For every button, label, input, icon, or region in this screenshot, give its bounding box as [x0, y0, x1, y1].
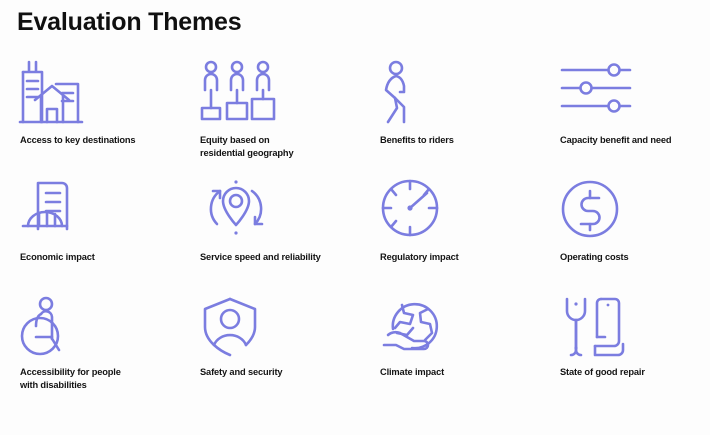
walking-person-icon — [380, 58, 540, 134]
theme-item-climate-impact[interactable]: Climate impact — [360, 288, 540, 413]
sliders-icon — [560, 58, 710, 134]
shield-person-icon — [200, 288, 360, 366]
theme-item-service-speed-and-reliability[interactable]: Service speed and reliability — [180, 173, 360, 288]
globe-hand-icon — [380, 288, 540, 366]
theme-item-operating-costs[interactable]: Operating costs — [540, 173, 710, 288]
theme-label: Operating costs — [560, 251, 710, 264]
theme-label: Safety and security — [200, 366, 360, 379]
wrench-screwdriver-icon — [560, 288, 710, 366]
slide-canvas: Evaluation Themes — [0, 0, 710, 435]
theme-label: Benefits to riders — [380, 134, 540, 147]
page-title: Evaluation Themes — [17, 9, 241, 37]
theme-label: Capacity benefit and need — [560, 134, 710, 147]
theme-label: Economic impact — [20, 251, 180, 264]
equity-people-podium-icon — [200, 58, 360, 134]
theme-item-state-of-good-repair[interactable]: State of good repair — [540, 288, 710, 413]
speedometer-gauge-icon — [380, 173, 540, 251]
city-buildings-icon — [20, 58, 180, 134]
theme-item-access-to-key-destinations[interactable]: Access to key destinations — [0, 58, 180, 173]
theme-item-capacity-benefit-and-need[interactable]: Capacity benefit and need — [540, 58, 710, 173]
theme-label: Climate impact — [380, 366, 540, 379]
theme-label: Equity based on residential geography — [200, 134, 360, 159]
theme-item-accessibility-for-people-with-disabilities[interactable]: Accessibility for people with disabiliti… — [0, 288, 180, 413]
theme-label: Accessibility for people with disabiliti… — [20, 366, 180, 391]
location-pin-refresh-icon — [200, 173, 360, 251]
theme-item-benefits-to-riders[interactable]: Benefits to riders — [360, 58, 540, 173]
theme-label: Service speed and reliability — [200, 251, 360, 264]
theme-item-safety-and-security[interactable]: Safety and security — [180, 288, 360, 413]
theme-item-equity-residential-geography[interactable]: Equity based on residential geography — [180, 58, 360, 173]
theme-item-regulatory-impact[interactable]: Regulatory impact — [360, 173, 540, 288]
theme-label: Access to key destinations — [20, 134, 180, 147]
theme-label: Regulatory impact — [380, 251, 540, 264]
evaluation-themes-grid: Access to key destinations — [0, 58, 710, 413]
theme-item-economic-impact[interactable]: Economic impact — [0, 173, 180, 288]
theme-label: State of good repair — [560, 366, 710, 379]
hard-hat-document-icon — [20, 173, 180, 251]
dollar-coin-icon — [560, 173, 710, 251]
wheelchair-accessibility-icon — [20, 288, 180, 366]
